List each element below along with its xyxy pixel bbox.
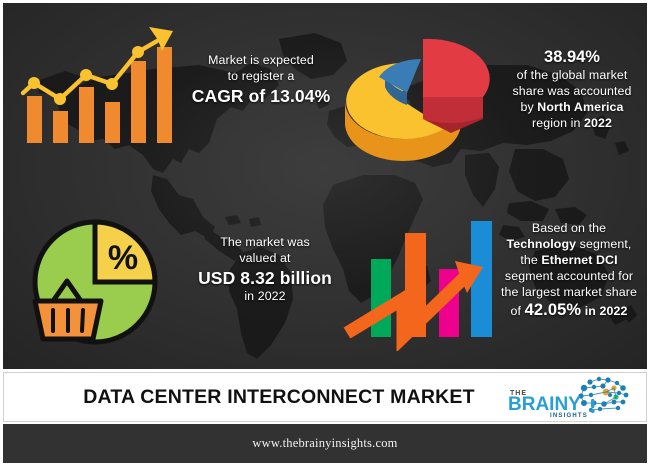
segment-line-4: segment accounted for — [487, 269, 647, 285]
percent-symbol: % — [108, 239, 138, 277]
cagr-highlight: CAGR of 13.04% — [181, 85, 341, 107]
infographic-stage: Market is expected to register a CAGR of… — [3, 3, 647, 369]
segment-value: 42.05% — [525, 301, 582, 319]
brainy-insights-logo: THE BRAINY INSIGHTS — [506, 375, 634, 419]
segment-line-3-prefix: the — [520, 253, 541, 267]
valuation-line-4: in 2022 — [185, 289, 345, 305]
valuation-highlight: USD 8.32 billion — [185, 267, 345, 289]
segment-line-2-rest: segment, — [576, 237, 631, 251]
segment-line-1: Based on the — [487, 221, 647, 237]
segment-line-6-prefix: of — [511, 304, 525, 318]
segment-text-block: Based on the Technology segment, the Eth… — [487, 221, 647, 321]
infographic-root: Market is expected to register a CAGR of… — [0, 0, 650, 466]
bar-chart-growth-icon — [17, 21, 177, 151]
region-line-3: by North America — [495, 100, 647, 116]
logo-brainy: BRAINY — [508, 394, 581, 415]
region-line-4-prefix: region in — [532, 116, 584, 130]
segment-chart-icon — [343, 211, 503, 351]
cagr-line-1: Market is expected — [181, 53, 341, 69]
region-line-4-bold: 2022 — [584, 116, 612, 130]
pie-basket-percent-icon: % — [25, 209, 175, 359]
valuation-line-1: The market was — [185, 235, 345, 251]
region-line-3-bold: North America — [537, 100, 623, 114]
cagr-chart-icon — [17, 21, 177, 151]
segment-technology-bold: Technology — [507, 237, 577, 251]
region-text-block: 38.94% of the global market share was ac… — [495, 47, 647, 132]
segment-line-2: Technology segment, — [487, 237, 647, 253]
segment-line-6: of 42.05% in 2022 — [487, 300, 647, 321]
region-line-4: region in 2022 — [495, 116, 647, 132]
segment-line-5: the largest market share — [487, 285, 647, 301]
region-line-1: of the global market — [495, 68, 647, 84]
website-url: www.thebrainyinsights.com — [252, 436, 397, 451]
valuation-line-2: valued at — [185, 251, 345, 267]
region-line-3-prefix: by — [520, 100, 537, 114]
logo-insights: INSIGHTS — [550, 413, 588, 419]
pie-chart-3d-icon — [333, 23, 493, 163]
regional-pie-icon — [333, 23, 493, 163]
url-bar: www.thebrainyinsights.com — [3, 424, 647, 463]
segment-ethernet-bold: Ethernet DCI — [541, 253, 617, 267]
valuation-text-block: The market was valued at USD 8.32 billio… — [185, 235, 345, 305]
cagr-line-2: to register a — [181, 69, 341, 85]
page-title: DATA CENTER INTERCONNECT MARKET — [4, 386, 506, 409]
title-bar: DATA CENTER INTERCONNECT MARKET — [3, 372, 647, 422]
cagr-text-block: Market is expected to register a CAGR of… — [181, 53, 341, 107]
region-line-2: share was accounted — [495, 84, 647, 100]
region-value: 38.94% — [495, 47, 647, 68]
segment-line-3: the Ethernet DCI — [487, 253, 647, 269]
segment-line-6-suffix: in 2022 — [581, 304, 627, 318]
bar-arrow-growth-icon — [343, 211, 503, 351]
valuation-pie-icon: % — [25, 209, 175, 359]
